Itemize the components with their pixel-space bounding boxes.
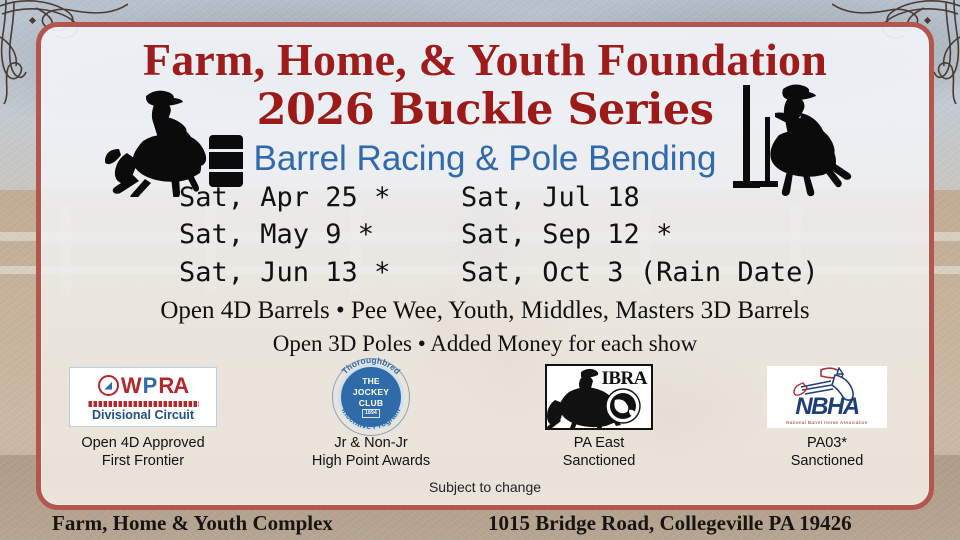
event-description: Open 4D Barrels • Pee Wee, Youth, Middle… [41, 295, 929, 359]
caption-line: PA03* [791, 435, 864, 453]
wpra-stars-bar-icon [87, 401, 199, 407]
wpra-letter-p: P [143, 373, 157, 399]
date-item: Sat, May 9 * [179, 216, 399, 253]
jockey-club-logo-icon: Thoroughbred Incentive Program THE JOCKE… [338, 365, 404, 429]
ibra-logo-icon: IBRA [545, 365, 653, 429]
logo-cell-wpra: W P RA Divisional Circuit Open 4D Approv… [58, 365, 228, 470]
caption-line: Open 4D Approved [81, 435, 204, 453]
venue-name: Farm, Home & Youth Complex [52, 511, 333, 536]
wpra-letter-ra: RA [158, 373, 188, 399]
nbha-logo-icon: NBHA National Barrel Horse Association [767, 365, 887, 429]
jockey-club-line-1: THE [362, 376, 380, 387]
caption-line: Sanctioned [791, 453, 864, 471]
wpra-emblem-icon [98, 375, 119, 396]
dates-column-left: Sat, Apr 25 * Sat, May 9 * Sat, Jun 13 * [179, 179, 399, 291]
logo-cell-jockey-club: Thoroughbred Incentive Program THE JOCKE… [286, 365, 456, 470]
nbha-subtitle: National Barrel Horse Association [786, 420, 868, 425]
sanctioning-logos: W P RA Divisional Circuit Open 4D Approv… [41, 365, 929, 470]
pole-icon [743, 85, 750, 183]
description-line-2: Open 3D Poles • Added Money for each sho… [41, 330, 929, 359]
event-dates: Sat, Apr 25 * Sat, May 9 * Sat, Jun 13 *… [41, 179, 929, 291]
event-flyer: Farm, Home, & Youth Foundation 2026 Buck… [0, 0, 960, 540]
jockey-club-line-3: CLUB [359, 398, 383, 409]
logo-cell-nbha: NBHA National Barrel Horse Association P… [742, 365, 912, 470]
description-line-1: Open 4D Barrels • Pee Wee, Youth, Middle… [41, 295, 929, 326]
wpra-subtitle: Divisional Circuit [92, 408, 194, 422]
date-item: Sat, Apr 25 * [179, 179, 399, 216]
nbha-horse-head-icon [791, 367, 863, 401]
ibra-wordmark: IBRA [601, 368, 647, 390]
jockey-club-line-2: JOCKEY [353, 387, 389, 398]
caption-line: PA East [563, 435, 636, 453]
venue-address: 1015 Bridge Road, Collegeville PA 19426 [488, 511, 852, 536]
jockey-club-year: 1894 [362, 409, 380, 417]
logo-caption-wpra: Open 4D Approved First Frontier [81, 435, 204, 470]
logo-caption-ibra: PA East Sanctioned [563, 435, 636, 470]
disclaimer-text: Subject to change [41, 479, 929, 495]
flyer-card: Farm, Home, & Youth Foundation 2026 Buck… [36, 22, 934, 510]
logo-caption-nbha: PA03* Sanctioned [791, 435, 864, 470]
date-item: Sat, Jun 13 * [179, 254, 399, 291]
caption-line: High Point Awards [312, 453, 430, 471]
logo-cell-ibra: IBRA PA East Sanctioned [514, 365, 684, 470]
caption-line: Sanctioned [563, 453, 636, 471]
dates-column-right: Sat, Jul 18 Sat, Sep 12 * Sat, Oct 3 (Ra… [461, 179, 791, 291]
date-item: Sat, Jul 18 [461, 179, 791, 216]
date-item: Sat, Sep 12 * [461, 216, 791, 253]
caption-line: First Frontier [81, 453, 204, 471]
footer: Farm, Home & Youth Complex 1015 Bridge R… [0, 506, 960, 540]
date-item: Sat, Oct 3 (Rain Date) [461, 254, 791, 291]
wpra-letter-w: W [121, 373, 141, 399]
wpra-logo-icon: W P RA Divisional Circuit [69, 365, 217, 429]
logo-caption-jockey-club: Jr & Non-Jr High Point Awards [312, 435, 430, 470]
